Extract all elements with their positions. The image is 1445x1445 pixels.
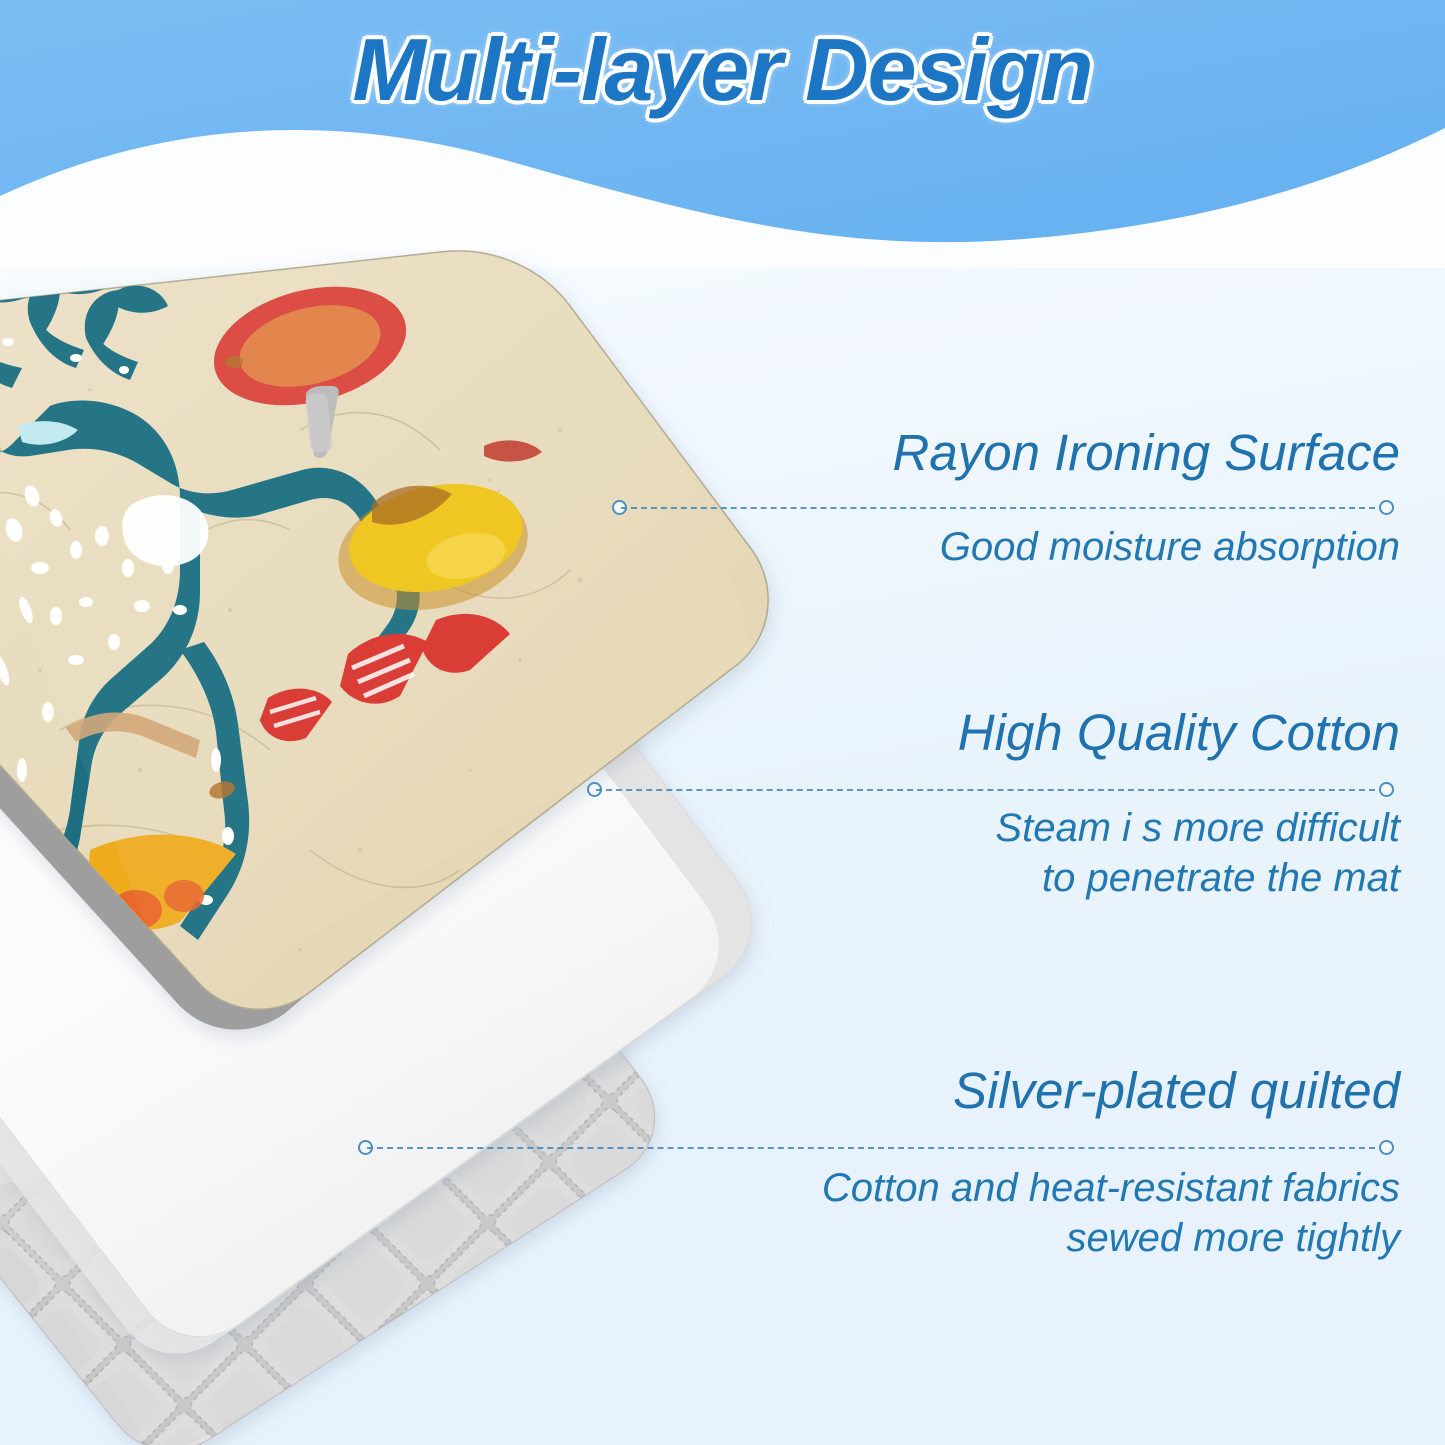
connector-dash (621, 507, 1385, 509)
callout-subtitle-line: to penetrate the mat (640, 853, 1400, 903)
callout-title: Rayon Ironing Surface (640, 425, 1400, 480)
callout-subtitle-line: Cotton and heat-resistant fabrics (620, 1163, 1400, 1213)
connector-dot-right (1379, 1140, 1394, 1155)
connector-line-rayon (612, 507, 1394, 509)
connector-dot-right (1379, 500, 1394, 515)
connector-line-cotton (587, 789, 1394, 791)
infographic-canvas: Multi-layer Design (0, 0, 1445, 1445)
connector-dot-right (1379, 782, 1394, 797)
page-title: Multi-layer Design (0, 19, 1445, 121)
callout-rayon-sub: Good moisture absorption (640, 522, 1400, 572)
callout-subtitle-line: Good moisture absorption (640, 522, 1400, 572)
callout-subtitle-line: sewed more tightly (620, 1213, 1400, 1263)
callout-cotton-sub: Steam i s more difficult to penetrate th… (640, 803, 1400, 904)
callout-quilted-sub: Cotton and heat-resistant fabrics sewed … (620, 1163, 1400, 1264)
callout-rayon: Rayon Ironing Surface (640, 425, 1400, 480)
connector-dash (367, 1147, 1385, 1149)
connector-dash (596, 789, 1385, 791)
callout-cotton: High Quality Cotton (640, 705, 1400, 760)
callout-subtitle-line: Steam i s more difficult (640, 803, 1400, 853)
header-banner: Multi-layer Design (0, 0, 1445, 268)
connector-line-quilted (358, 1147, 1394, 1149)
callout-title: High Quality Cotton (640, 705, 1400, 760)
callout-title: Silver-plated quilted (640, 1063, 1400, 1118)
callout-quilted: Silver-plated quilted (640, 1063, 1400, 1118)
